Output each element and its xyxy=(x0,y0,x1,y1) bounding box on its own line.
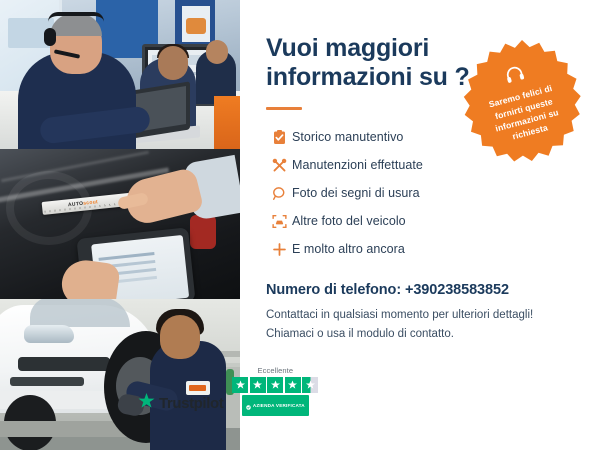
orange-equipment xyxy=(214,96,240,149)
contact-line-2: Chiamaci o usa il modulo di contatto. xyxy=(266,325,576,344)
feature-item-altre-foto-veicolo: Altre foto del veicolo xyxy=(266,207,576,235)
trustpilot-logo: Trustpilot xyxy=(138,393,223,416)
trustpilot-wordmark: Trustpilot xyxy=(159,395,223,412)
contact-line-1: Contattaci in qualsiasi momento per ulte… xyxy=(266,306,576,325)
plus-icon xyxy=(266,242,292,257)
feature-label: Altre foto del veicolo xyxy=(292,214,406,228)
promo-banner: AUTOscout xyxy=(0,0,600,450)
clipboard-check-icon xyxy=(266,130,292,145)
feature-item-foto-segni-usura: Foto dei segni di usura xyxy=(266,179,576,207)
headset-earpiece xyxy=(44,28,56,46)
headset-band xyxy=(48,12,104,22)
mechanic-head xyxy=(160,315,200,359)
feature-label: Manutenzioni effettuate xyxy=(292,158,423,172)
page-title: Vuoi maggiori informazioni su ? xyxy=(266,34,476,92)
background-head-2 xyxy=(206,40,228,64)
contact-instructions: Contattaci in qualsiasi momento per ulte… xyxy=(266,306,576,343)
trustpilot-star-icon xyxy=(138,393,155,414)
star-icon xyxy=(250,377,266,393)
trustpilot-widget[interactable]: Trustpilot Eccellente xyxy=(138,366,318,416)
feature-label: Storico manutentivo xyxy=(292,130,403,144)
star-icon xyxy=(267,377,283,393)
feature-label: Foto dei segni di usura xyxy=(292,186,420,200)
feature-label: E molto altro ancora xyxy=(292,242,405,256)
wall-poster xyxy=(182,6,210,42)
title-underline-rule xyxy=(266,107,302,110)
lower-grille xyxy=(10,377,84,386)
headlight xyxy=(24,325,74,343)
lift-platform xyxy=(0,421,132,437)
car-scan-icon xyxy=(266,214,292,229)
starburst-shape xyxy=(458,38,586,166)
rating-label: Eccellente xyxy=(258,366,294,375)
verified-check-icon xyxy=(246,397,251,415)
call-center-photo xyxy=(0,0,240,149)
magnifier-icon xyxy=(266,186,292,201)
verified-business-badge: AZIENDA VERIFICATA xyxy=(242,395,309,416)
background-head-1 xyxy=(158,46,188,80)
car-inspection-photo: AUTOscout xyxy=(0,149,240,299)
verified-label: AZIENDA VERIFICATA xyxy=(253,403,305,408)
ruler-brand: AUTOscout xyxy=(68,199,99,208)
crossed-tools-icon xyxy=(266,158,292,173)
tail-light xyxy=(190,215,216,249)
star-icon-half xyxy=(302,377,318,393)
feature-item-molto-altro: E molto altro ancora xyxy=(266,235,576,263)
star-icon xyxy=(285,377,301,393)
trustpilot-rating: Eccellente xyxy=(232,366,318,416)
front-grille xyxy=(18,357,110,371)
phone-number[interactable]: Numero di telefono: +390238583852 xyxy=(266,282,576,298)
windshield xyxy=(30,299,130,327)
callout-badge: Saremo felici di fornirti queste informa… xyxy=(458,38,586,166)
star-rating xyxy=(232,377,318,393)
star-icon xyxy=(232,377,248,393)
